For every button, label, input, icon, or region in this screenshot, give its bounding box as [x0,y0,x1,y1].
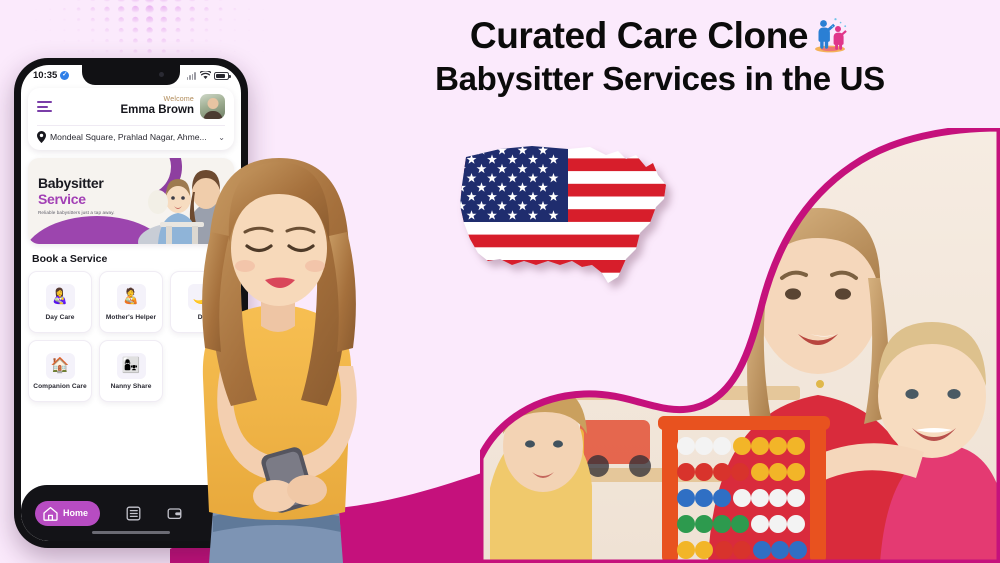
service-card[interactable]: 👩‍👧Nanny Share [99,340,163,402]
location-text: Mondeal Square, Prahlad Nagar, Ahme... [50,132,214,142]
status-time-text: 10:35 [33,70,57,81]
service-card[interactable]: 🧑‍🍼Mother's Helper [99,271,163,333]
page-title: Curated Care Clone Babys [380,14,940,101]
list-icon[interactable] [126,506,141,521]
home-indicator-bar [92,531,170,534]
user-name: Emma Brown [121,104,195,117]
status-bar: 10:35 ✓ [21,65,241,86]
companion-care-icon: 🏠 [46,353,75,379]
chevron-down-icon[interactable]: ⌄ [218,133,225,142]
welcome-label: Welcome [121,96,195,104]
caregiver-with-children-photo [480,128,1000,563]
service-card-label: Day Care [46,314,75,321]
battery-icon [214,72,229,80]
day-care-icon: 👩‍🍼 [46,284,75,310]
woman-using-phone-photo [175,150,400,563]
service-card[interactable]: 👩‍🍼Day Care [28,271,92,333]
kids-playing-logo-icon [810,16,850,54]
home-icon [43,506,58,521]
wifi-icon [200,71,211,80]
banner-title-line-2: Service [38,191,115,207]
headline-line-1: Curated Care Clone [380,14,940,58]
service-card-label: Nanny Share [111,383,152,390]
headline-line-1-text: Curated Care Clone [470,15,808,56]
halftone-dots-pattern-icon [28,0,278,56]
status-indicators [187,71,229,80]
status-time: 10:35 ✓ [33,70,69,81]
header-top-row: Welcome Emma Brown [37,94,225,119]
mothers-helper-icon: 🧑‍🍼 [117,284,146,310]
signal-bars-icon [187,72,196,80]
banner-subtitle: Reliable babysitters just a tap away. [38,210,115,215]
user-greeting: Welcome Emma Brown [121,96,195,117]
status-badge-icon: ✓ [60,71,69,80]
app-header-card: Welcome Emma Brown Mondeal Square, Prahl… [28,88,234,150]
service-card-label: Companion Care [33,383,86,390]
service-card[interactable]: 🏠Companion Care [28,340,92,402]
hamburger-menu-icon[interactable] [37,101,52,112]
avatar[interactable] [200,94,225,119]
banner-text: Babysitter Service Reliable babysitters … [38,176,115,215]
nav-item-home[interactable]: Home [35,501,100,526]
banner-title-line-1: Babysitter [38,176,115,191]
location-selector[interactable]: Mondeal Square, Prahlad Nagar, Ahme... ⌄ [37,125,225,143]
promo-banner-canvas: Curated Care Clone Babys [0,0,1000,563]
service-card-label: Mother's Helper [106,314,156,321]
nav-item-home-label: Home [63,508,88,518]
nanny-share-icon: 👩‍👧 [117,353,146,379]
location-pin-icon [37,131,46,143]
headline-line-2: Babysitter Services in the US [380,58,940,101]
